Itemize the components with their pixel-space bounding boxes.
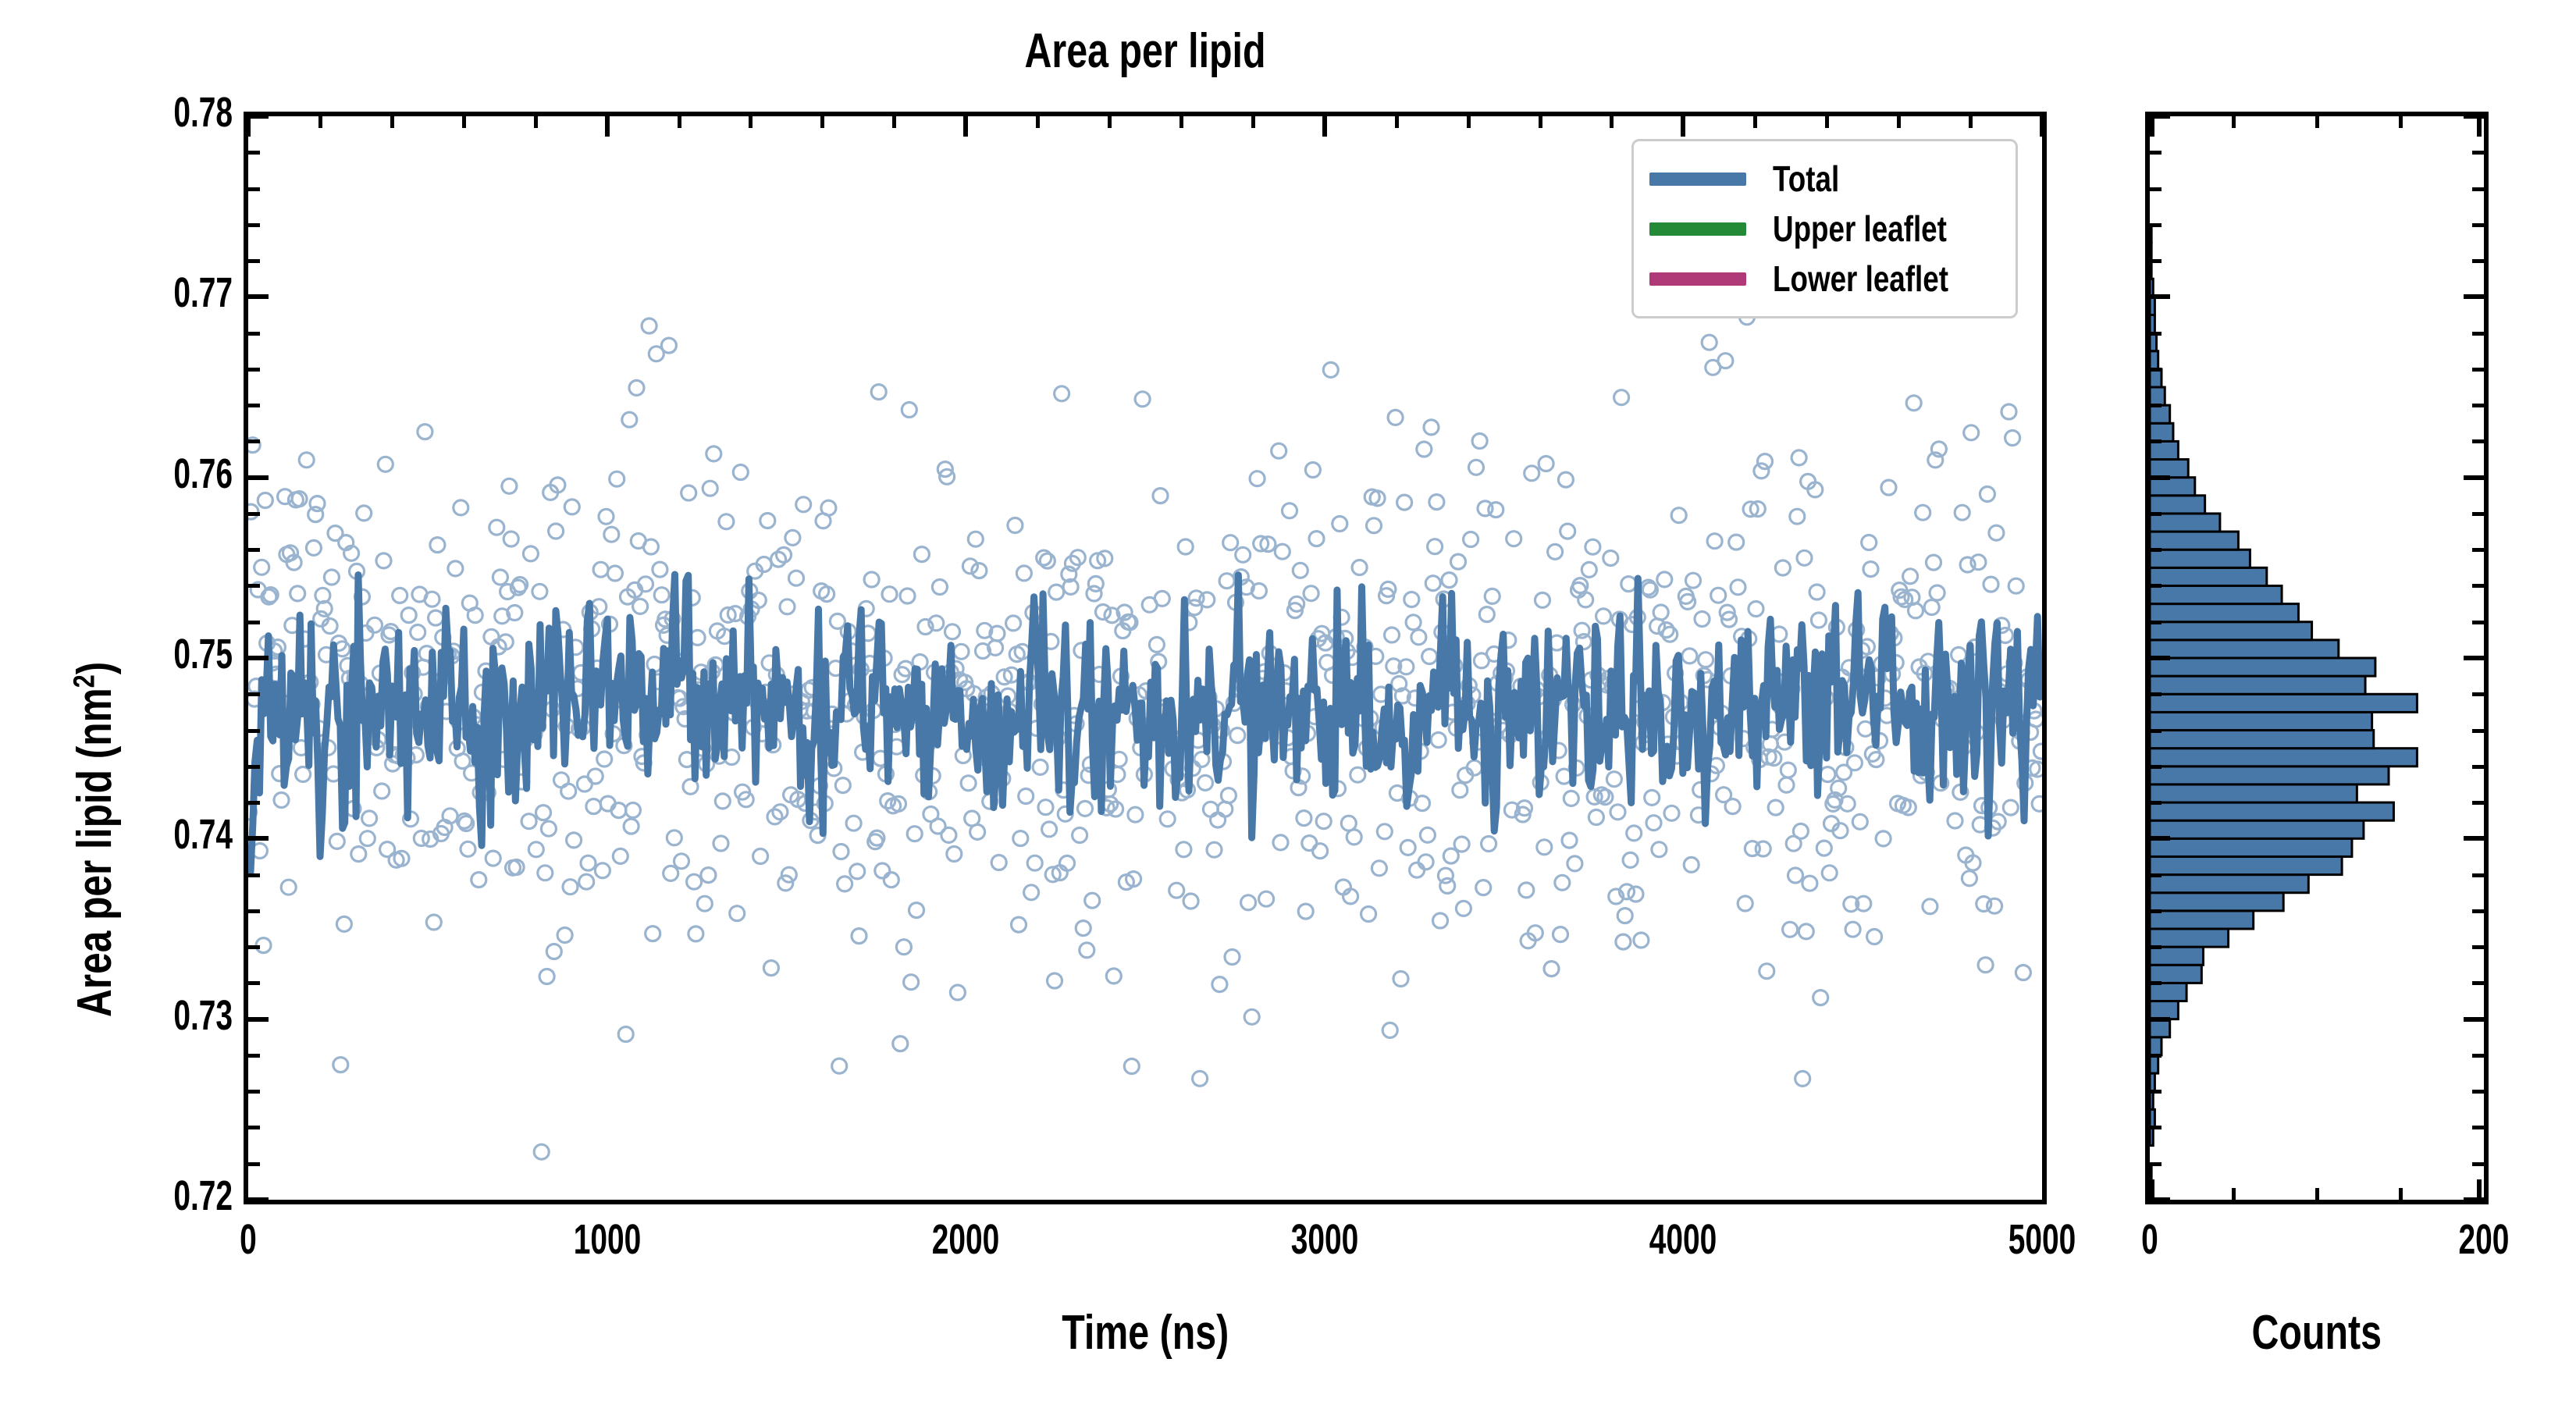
axis-tick	[248, 151, 260, 155]
axis-tick	[248, 332, 260, 336]
axis-tick	[2150, 584, 2161, 588]
legend-swatch-lower-leaflet	[1649, 272, 1746, 286]
axis-tick	[2150, 1162, 2161, 1166]
axis-tick	[248, 656, 269, 660]
y-tick-label: 0.78	[72, 88, 233, 137]
axis-tick	[2472, 259, 2484, 263]
axis-tick	[2472, 1090, 2484, 1094]
y-axis-title: Area per lipid (nm2)	[67, 573, 123, 1017]
axis-tick	[2150, 981, 2161, 985]
axis-tick	[248, 404, 260, 407]
y-tick-label: 0.76	[72, 450, 233, 498]
axis-tick	[678, 116, 681, 128]
axis-tick	[2150, 294, 2170, 299]
legend-swatch-upper-leaflet	[1649, 222, 1746, 236]
axis-tick	[2472, 332, 2484, 336]
axis-tick	[1753, 116, 1757, 128]
axis-tick	[248, 873, 260, 877]
axis-tick	[2150, 259, 2161, 263]
legend-label-lower-leaflet: Lower leaflet	[1773, 258, 1948, 300]
axis-tick	[2472, 439, 2484, 443]
y-tick-label: 0.77	[72, 269, 233, 317]
legend-item-lower-leaflet: Lower leaflet	[1649, 258, 2000, 299]
axis-tick	[2472, 1162, 2484, 1166]
histogram-x-axis-title: Counts	[2145, 1305, 2489, 1361]
axis-tick	[248, 836, 269, 841]
figure-canvas: Area per lipid 0.720.730.740.750.760.770…	[0, 0, 2576, 1405]
axis-tick	[248, 548, 260, 552]
axis-tick	[248, 1054, 260, 1058]
axis-tick	[2472, 584, 2484, 588]
axis-tick	[318, 116, 322, 128]
axis-tick	[2150, 368, 2161, 372]
axis-tick	[2399, 116, 2403, 128]
axis-tick	[248, 584, 260, 588]
legend-swatch-total	[1649, 173, 1746, 186]
legend-label-total: Total	[1773, 158, 1839, 200]
axis-tick	[248, 1197, 269, 1202]
axis-tick	[1467, 116, 1471, 128]
axis-tick	[1322, 116, 1327, 137]
axis-tick	[2472, 621, 2484, 624]
axis-tick	[2472, 223, 2484, 227]
axis-tick	[605, 116, 610, 137]
axis-tick	[2464, 656, 2484, 660]
axis-tick	[2472, 151, 2484, 155]
x-axis-title: Time (ns)	[244, 1305, 2047, 1361]
axis-tick	[1179, 116, 1183, 128]
axis-tick	[462, 116, 466, 128]
axis-tick	[1897, 116, 1901, 128]
axis-tick	[2472, 404, 2484, 407]
axis-tick	[820, 116, 824, 128]
axis-tick	[2472, 548, 2484, 552]
axis-tick	[1969, 116, 1973, 128]
axis-tick	[2150, 729, 2161, 733]
axis-tick	[2150, 909, 2161, 913]
axis-tick	[2150, 187, 2161, 191]
axis-tick	[1610, 116, 1614, 128]
axis-tick	[248, 621, 260, 624]
axis-tick	[2150, 801, 2161, 805]
axis-tick	[2477, 116, 2482, 137]
axis-tick	[2472, 729, 2484, 733]
axis-tick	[2150, 836, 2170, 841]
axis-tick	[2472, 368, 2484, 372]
axis-tick	[2150, 1054, 2161, 1058]
axis-tick	[2472, 945, 2484, 949]
axis-tick	[2150, 765, 2161, 769]
axis-tick	[2464, 475, 2484, 480]
axis-tick	[248, 294, 269, 299]
axis-tick	[1681, 116, 1685, 137]
axis-tick	[2472, 801, 2484, 805]
axis-tick	[2150, 439, 2161, 443]
axis-tick	[2399, 1188, 2403, 1200]
axis-tick	[963, 116, 968, 137]
axis-tick	[248, 259, 260, 263]
axis-tick	[2472, 765, 2484, 769]
axis-tick	[534, 116, 538, 128]
x-tick-label: 0	[136, 1215, 361, 1264]
axis-tick	[248, 981, 260, 985]
chart-title: Area per lipid	[442, 23, 1848, 79]
axis-tick	[2150, 1017, 2170, 1022]
histogram-x-axis-title-text: Counts	[2252, 1305, 2382, 1361]
histogram-axes	[2145, 112, 2489, 1204]
axis-tick	[248, 909, 260, 913]
axis-tick	[2472, 1126, 2484, 1129]
axis-tick	[2472, 1054, 2484, 1058]
legend-item-total: Total	[1649, 158, 2000, 199]
axis-tick	[2150, 332, 2161, 336]
axis-tick	[2150, 656, 2170, 660]
axis-tick	[2464, 294, 2484, 299]
axis-tick	[2150, 404, 2161, 407]
axis-tick	[1036, 116, 1040, 128]
x-tick-label: 2000	[853, 1215, 1078, 1264]
x-axis-title-text: Time (ns)	[1062, 1305, 1229, 1361]
axis-tick	[248, 945, 260, 949]
axis-tick	[248, 475, 269, 480]
histogram-plot-area	[2150, 116, 2484, 1200]
axis-tick	[2150, 1090, 2161, 1094]
axis-tick	[2150, 873, 2161, 877]
x-tick-label: 4000	[1571, 1215, 1795, 1264]
axis-tick	[2150, 548, 2161, 552]
axis-tick	[248, 801, 260, 805]
axis-tick	[2150, 1126, 2161, 1129]
axis-tick	[2150, 475, 2170, 480]
axis-tick	[2472, 692, 2484, 696]
axis-tick	[2472, 981, 2484, 985]
axis-tick	[2150, 223, 2161, 227]
axis-tick	[1251, 116, 1255, 128]
y-tick-label: 0.72	[72, 1172, 233, 1220]
axis-tick	[2150, 151, 2161, 155]
axis-tick	[2315, 1188, 2319, 1200]
legend-item-upper-leaflet: Upper leaflet	[1649, 208, 2000, 249]
axis-tick	[248, 512, 260, 516]
axis-tick	[2150, 512, 2161, 516]
axis-tick	[248, 114, 269, 119]
axis-tick	[1395, 116, 1399, 128]
axis-tick	[248, 1162, 260, 1166]
axis-tick	[2472, 909, 2484, 913]
axis-tick	[2150, 621, 2161, 624]
axis-tick	[2150, 945, 2161, 949]
axis-tick	[248, 1126, 260, 1129]
axis-tick	[892, 116, 896, 128]
axis-tick	[2472, 512, 2484, 516]
axis-tick	[2150, 1179, 2154, 1200]
legend-label-upper-leaflet: Upper leaflet	[1773, 208, 1947, 250]
histogram-x-tick-label: 200	[2371, 1215, 2576, 1264]
axis-tick	[248, 368, 260, 372]
axis-tick	[2150, 116, 2154, 137]
axis-tick	[1108, 116, 1112, 128]
axis-tick	[1825, 116, 1829, 128]
legend: Total Upper leaflet Lower leaflet	[1631, 139, 2018, 318]
axis-tick	[248, 729, 260, 733]
axis-tick	[2232, 1188, 2236, 1200]
axis-tick	[2464, 836, 2484, 841]
axis-tick	[2472, 873, 2484, 877]
axis-tick	[248, 439, 260, 443]
axis-tick	[2477, 1179, 2482, 1200]
axis-tick	[749, 116, 753, 128]
axis-tick	[2464, 1017, 2484, 1022]
axis-tick	[2315, 116, 2319, 128]
axis-tick	[248, 223, 260, 227]
axis-tick	[2232, 116, 2236, 128]
axis-tick	[246, 116, 251, 137]
axis-tick	[1539, 116, 1542, 128]
axis-tick	[248, 692, 260, 696]
x-tick-label: 1000	[495, 1215, 720, 1264]
x-tick-label: 3000	[1212, 1215, 1437, 1264]
axis-tick	[2040, 116, 2044, 137]
axis-tick	[248, 1017, 269, 1022]
axis-tick	[2150, 692, 2161, 696]
axis-tick	[390, 116, 394, 128]
axis-tick	[248, 765, 260, 769]
axis-tick	[248, 1090, 260, 1094]
histogram-x-tick-label: 0	[2037, 1215, 2262, 1264]
axis-tick	[2472, 187, 2484, 191]
axis-tick	[248, 187, 260, 191]
